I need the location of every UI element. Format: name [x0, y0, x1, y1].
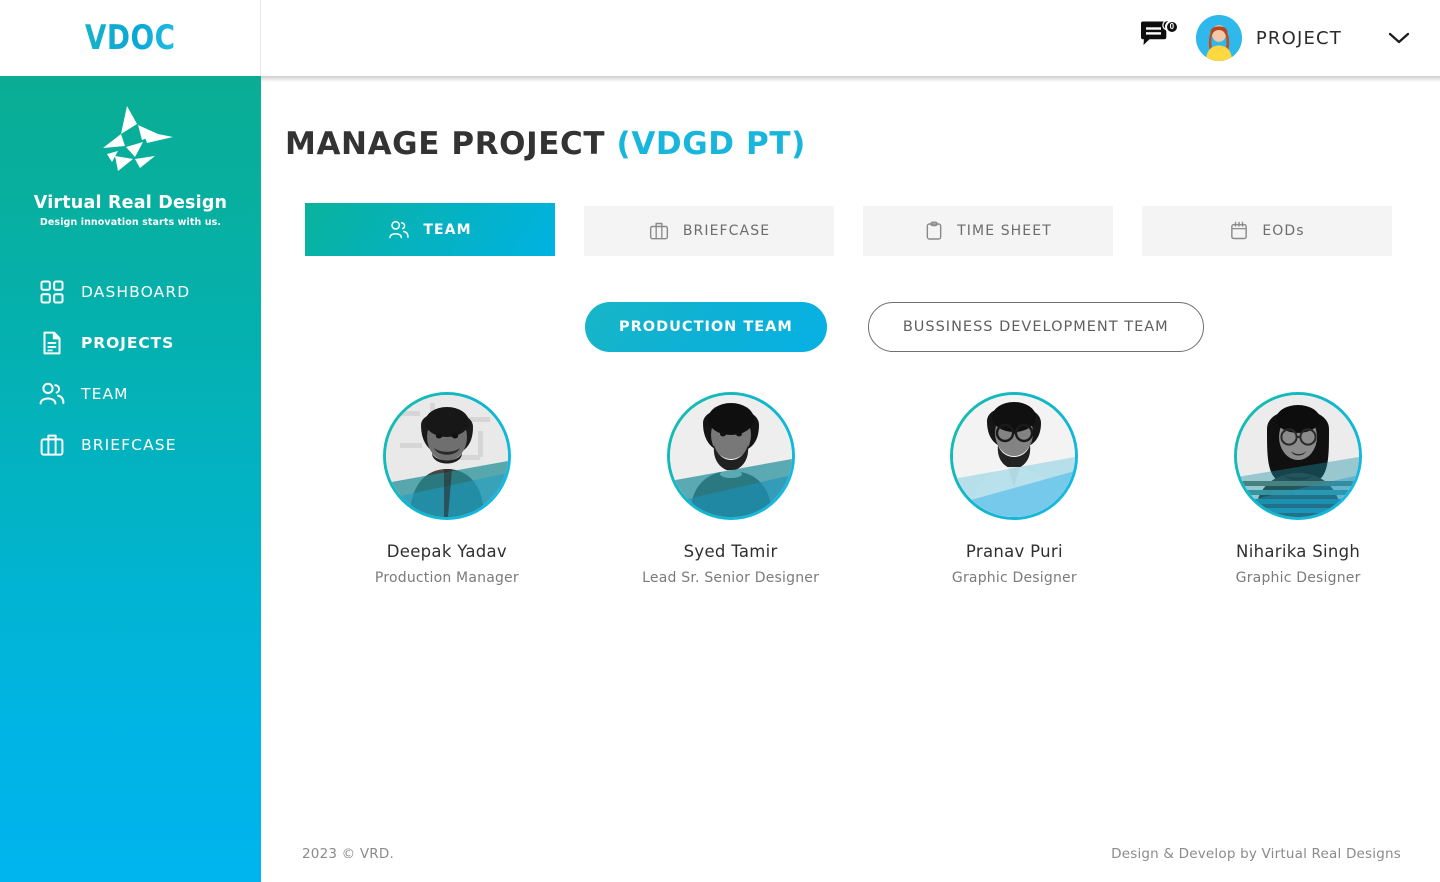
chat-bubble-icon[interactable]: 0 [1140, 21, 1180, 55]
avatar[interactable] [1196, 15, 1242, 61]
people-icon [388, 220, 410, 240]
member-role: Graphic Designer [952, 570, 1077, 586]
sidebar: Virtual Real Design Design innovation st… [0, 76, 261, 882]
member-name: Syed Tamir [684, 542, 778, 561]
top-bar: VDOC 0 [0, 0, 1440, 76]
tab-label: TEAM [423, 222, 471, 238]
tab-eods[interactable]: EODs [1142, 206, 1392, 256]
page-title-accent: (VDGD PT) [617, 126, 806, 162]
sidebar-item-dashboard[interactable]: DASHBOARD [0, 266, 261, 317]
company-name: Virtual Real Design [34, 193, 227, 213]
team-member-card[interactable]: Syed Tamir Lead Sr. Senior Designer [589, 392, 873, 586]
tab-label: EODs [1262, 223, 1304, 239]
member-avatar [953, 395, 1075, 517]
document-icon [38, 329, 65, 356]
chevron-down-icon[interactable] [1388, 31, 1410, 45]
origami-bird-icon [85, 104, 177, 189]
header-shadow [261, 76, 1440, 82]
sidebar-brand: Virtual Real Design Design innovation st… [0, 76, 261, 228]
briefcase-icon [38, 431, 65, 458]
top-bar-right: 0 PROJECT [261, 0, 1440, 76]
team-filter-group: PRODUCTION TEAM BUSSINESS DEVELOPMENT TE… [585, 302, 1440, 352]
tab-team[interactable]: TEAM [305, 203, 555, 256]
filter-business-development-team[interactable]: BUSSINESS DEVELOPMENT TEAM [868, 302, 1204, 352]
member-avatar-ring [383, 392, 511, 520]
team-member-card[interactable]: Pranav Puri Graphic Designer [873, 392, 1157, 586]
sidebar-item-label: TEAM [81, 385, 129, 403]
clipboard-icon [924, 221, 944, 241]
section-tabs: TEAM BRIEFCASE [305, 203, 1440, 256]
page-title: MANAGE PROJECT (VDGD PT) [285, 126, 1440, 162]
member-avatar-ring [1234, 392, 1362, 520]
team-member-grid: Deepak Yadav Production Manager [261, 392, 1440, 586]
member-name: Pranav Puri [966, 542, 1063, 561]
briefcase-icon [648, 221, 670, 241]
footer-copyright: 2023 © VRD. [302, 846, 394, 862]
member-avatar [386, 395, 508, 517]
app-root: VDOC 0 [0, 0, 1440, 882]
tab-briefcase[interactable]: BRIEFCASE [584, 206, 834, 256]
message-count-badge: 0 [1165, 20, 1179, 34]
sidebar-item-projects[interactable]: PROJECTS [0, 317, 261, 368]
member-avatar [670, 395, 792, 517]
main-content: MANAGE PROJECT (VDGD PT) TEAM [261, 76, 1440, 882]
member-avatar-ring [950, 392, 1078, 520]
tab-label: BRIEFCASE [683, 223, 770, 239]
member-name: Niharika Singh [1236, 542, 1360, 561]
footer: 2023 © VRD. Design & Develop by Virtual … [261, 826, 1440, 882]
team-member-card[interactable]: Deepak Yadav Production Manager [305, 392, 589, 586]
tab-label: TIME SHEET [957, 223, 1052, 239]
calendar-icon [1229, 221, 1249, 241]
people-icon [38, 380, 65, 407]
sidebar-item-label: DASHBOARD [81, 283, 190, 301]
app-logo-text: VDOC [85, 18, 176, 58]
member-name: Deepak Yadav [387, 542, 507, 561]
sidebar-item-label: PROJECTS [81, 334, 174, 352]
page-title-text: MANAGE PROJECT [285, 126, 605, 162]
tab-time-sheet[interactable]: TIME SHEET [863, 206, 1113, 256]
filter-production-team[interactable]: PRODUCTION TEAM [585, 302, 827, 352]
member-role: Lead Sr. Senior Designer [642, 570, 819, 586]
member-role: Graphic Designer [1236, 570, 1361, 586]
member-avatar [1237, 395, 1359, 517]
footer-credit: Design & Develop by Virtual Real Designs [1111, 846, 1401, 862]
sidebar-item-team[interactable]: TEAM [0, 368, 261, 419]
sidebar-item-label: BRIEFCASE [81, 436, 177, 454]
sidebar-item-briefcase[interactable]: BRIEFCASE [0, 419, 261, 470]
team-member-card[interactable]: Niharika Singh Graphic Designer [1156, 392, 1440, 586]
member-avatar-ring [667, 392, 795, 520]
grid-icon [38, 278, 65, 305]
sidebar-nav: DASHBOARD PROJECTS [0, 266, 261, 470]
member-role: Production Manager [375, 570, 519, 586]
profile-label: PROJECT [1256, 28, 1342, 49]
company-tagline: Design innovation starts with us. [40, 217, 221, 228]
app-logo[interactable]: VDOC [0, 0, 261, 76]
